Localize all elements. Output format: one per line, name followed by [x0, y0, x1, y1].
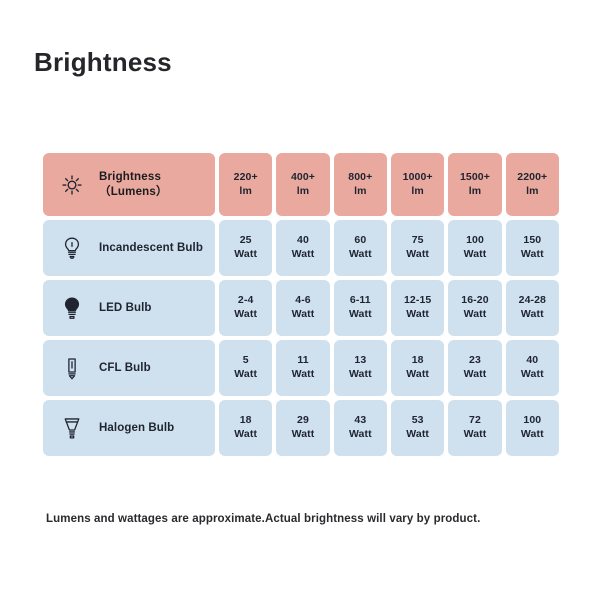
header-cell-value: 2200+ [517, 171, 547, 185]
data-cell: 6-11 Watt [334, 280, 387, 336]
data-cell-unit: Watt [464, 308, 487, 322]
data-cell-unit: Watt [521, 368, 544, 382]
data-cell-value: 43 [354, 414, 366, 428]
header-label-cell: Brightness（Lumens） [43, 153, 215, 216]
table-row: Halogen Bulb 18 Watt 29 Watt 43 Watt 53 … [43, 400, 559, 456]
data-cell-unit: Watt [234, 308, 257, 322]
header-cell-value: 800+ [348, 171, 372, 185]
header-cell-unit: lm [411, 185, 423, 199]
data-cell: 53 Watt [391, 400, 444, 456]
header-label-text: Brightness（Lumens） [99, 171, 215, 199]
halogen-bulb-icon [59, 413, 85, 443]
data-cell-unit: Watt [464, 248, 487, 262]
data-cell-value: 24-28 [519, 294, 546, 308]
data-cell-value: 12-15 [404, 294, 431, 308]
data-cell: 43 Watt [334, 400, 387, 456]
data-cell-unit: Watt [292, 368, 315, 382]
data-cell-unit: Watt [349, 368, 372, 382]
data-cell-unit: Watt [521, 248, 544, 262]
table-header-row: Brightness（Lumens） 220+ lm 400+ lm 800+ … [43, 153, 559, 216]
data-cell-unit: Watt [521, 308, 544, 322]
data-cell-value: 100 [523, 414, 541, 428]
data-cell: 11 Watt [276, 340, 329, 396]
header-cell-unit: lm [239, 185, 251, 199]
data-cell-value: 72 [469, 414, 481, 428]
row-label-cell-cfl: CFL Bulb [43, 340, 215, 396]
data-cell-value: 25 [240, 234, 252, 248]
data-cell: 25 Watt [219, 220, 272, 276]
cfl-bulb-icon [59, 353, 85, 383]
header-cell-unit: lm [297, 185, 309, 199]
data-cell-unit: Watt [349, 248, 372, 262]
data-cell-unit: Watt [292, 428, 315, 442]
data-cell: 16-20 Watt [448, 280, 501, 336]
header-cell-3: 1000+ lm [391, 153, 444, 216]
data-cell-value: 40 [526, 354, 538, 368]
data-cell: 100 Watt [448, 220, 501, 276]
header-cell-1: 400+ lm [276, 153, 329, 216]
row-label-text: Incandescent Bulb [99, 242, 203, 254]
row-label-cell-halogen: Halogen Bulb [43, 400, 215, 456]
header-cell-value: 1000+ [403, 171, 433, 185]
data-cell-unit: Watt [406, 248, 429, 262]
data-cell: 100 Watt [506, 400, 559, 456]
data-cell-value: 11 [297, 354, 308, 368]
header-cell-unit: lm [354, 185, 366, 199]
data-cell-value: 23 [469, 354, 481, 368]
data-cell-unit: Watt [234, 428, 257, 442]
data-cell: 29 Watt [276, 400, 329, 456]
data-cell-unit: Watt [406, 308, 429, 322]
data-cell: 23 Watt [448, 340, 501, 396]
data-cell: 18 Watt [219, 400, 272, 456]
data-cell: 40 Watt [506, 340, 559, 396]
data-cell: 24-28 Watt [506, 280, 559, 336]
data-cell-value: 18 [412, 354, 424, 368]
data-cell: 4-6 Watt [276, 280, 329, 336]
footnote-text: Lumens and wattages are approximate.Actu… [46, 513, 480, 525]
data-cell-unit: Watt [349, 308, 372, 322]
data-cell-value: 75 [412, 234, 424, 248]
sun-icon [59, 170, 85, 200]
data-cell-value: 13 [354, 354, 366, 368]
data-cell: 12-15 Watt [391, 280, 444, 336]
table-row: LED Bulb 2-4 Watt 4-6 Watt 6-11 Watt 12-… [43, 280, 559, 336]
data-cell-value: 18 [240, 414, 252, 428]
data-cell: 5 Watt [219, 340, 272, 396]
data-cell-value: 6-11 [350, 294, 371, 308]
data-cell-unit: Watt [292, 308, 315, 322]
header-cell-value: 1500+ [460, 171, 490, 185]
row-label-cell-incandescent: Incandescent Bulb [43, 220, 215, 276]
data-cell-value: 29 [297, 414, 309, 428]
incandescent-bulb-icon [59, 233, 85, 263]
header-cell-value: 400+ [291, 171, 315, 185]
data-cell-value: 4-6 [295, 294, 310, 308]
data-cell-unit: Watt [406, 428, 429, 442]
data-cell-unit: Watt [406, 368, 429, 382]
data-cell: 150 Watt [506, 220, 559, 276]
data-cell-value: 16-20 [461, 294, 488, 308]
data-cell-unit: Watt [521, 428, 544, 442]
header-cell-value: 220+ [234, 171, 258, 185]
table-row: Incandescent Bulb 25 Watt 40 Watt 60 Wat… [43, 220, 559, 276]
data-cell-value: 150 [523, 234, 541, 248]
data-cell-value: 60 [354, 234, 366, 248]
header-cell-0: 220+ lm [219, 153, 272, 216]
row-label-text: Halogen Bulb [99, 422, 174, 434]
data-cell: 72 Watt [448, 400, 501, 456]
data-cell-value: 2-4 [238, 294, 253, 308]
data-cell-unit: Watt [464, 368, 487, 382]
header-cell-unit: lm [526, 185, 538, 199]
row-label-text: CFL Bulb [99, 362, 151, 374]
row-label-text: LED Bulb [99, 302, 152, 314]
brightness-comparison-page: Brightness Br [0, 0, 600, 600]
data-cell: 75 Watt [391, 220, 444, 276]
data-cell-value: 5 [243, 354, 249, 368]
data-cell-unit: Watt [234, 248, 257, 262]
data-cell-value: 40 [297, 234, 309, 248]
data-cell: 60 Watt [334, 220, 387, 276]
data-cell-unit: Watt [349, 428, 372, 442]
data-cell: 40 Watt [276, 220, 329, 276]
header-cell-2: 800+ lm [334, 153, 387, 216]
header-cell-5: 2200+ lm [506, 153, 559, 216]
page-title: Brightness [34, 48, 172, 77]
data-cell: 13 Watt [334, 340, 387, 396]
header-cell-4: 1500+ lm [448, 153, 501, 216]
header-cell-unit: lm [469, 185, 481, 199]
row-label-cell-led: LED Bulb [43, 280, 215, 336]
data-cell: 18 Watt [391, 340, 444, 396]
data-cell-value: 100 [466, 234, 484, 248]
data-cell-unit: Watt [464, 428, 487, 442]
data-cell-unit: Watt [234, 368, 257, 382]
data-cell: 2-4 Watt [219, 280, 272, 336]
table-row: CFL Bulb 5 Watt 11 Watt 13 Watt 18 Watt … [43, 340, 559, 396]
data-cell-unit: Watt [292, 248, 315, 262]
data-cell-value: 53 [412, 414, 424, 428]
led-bulb-icon [59, 293, 85, 323]
brightness-table: Brightness（Lumens） 220+ lm 400+ lm 800+ … [43, 153, 559, 456]
